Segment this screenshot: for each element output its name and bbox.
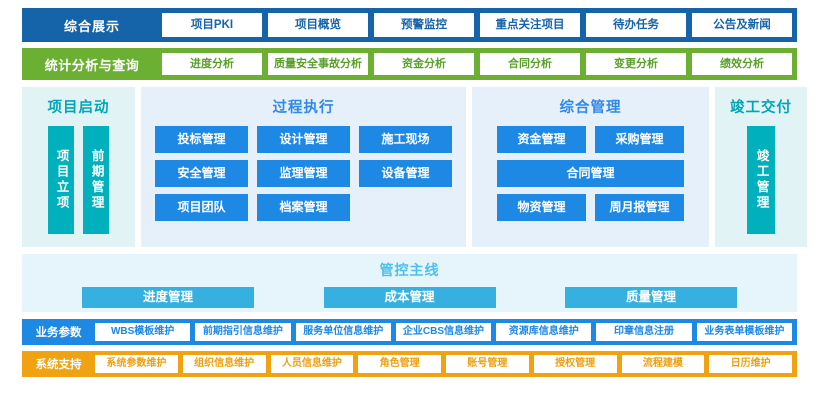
lifecycle-strip: 项目启动 项目立项前期管理 过程执行 投标管理设计管理施工现场安全管理监理管理设…	[22, 87, 797, 247]
manage-module[interactable]: 资金管理	[497, 126, 586, 153]
module-row: 安全管理监理管理设备管理	[155, 160, 452, 187]
module-row: 合同管理	[486, 160, 695, 187]
system-architecture-diagram: 综合展示 项目PKI项目概览预警监控重点关注项目待办任务公告及新闻 统计分析与查…	[22, 8, 797, 377]
module-row: 项目团队档案管理	[155, 194, 452, 221]
panel-end-title: 竣工交付	[730, 96, 792, 117]
display-nav-item[interactable]: 项目概览	[268, 13, 368, 37]
panel-start-body: 项目立项前期管理	[22, 126, 135, 247]
manage-module[interactable]: 采购管理	[595, 126, 684, 153]
grid-spacer	[359, 194, 452, 221]
process-module[interactable]: 投标管理	[155, 126, 248, 153]
system-row-label: 系统支持	[22, 356, 95, 372]
param-item[interactable]: 印章信息注册	[596, 323, 691, 341]
system-item[interactable]: 系统参数维护	[95, 355, 178, 373]
system-item[interactable]: 日历维护	[709, 355, 792, 373]
display-nav-item[interactable]: 项目PKI	[162, 13, 262, 37]
panel-start-title: 项目启动	[48, 96, 110, 117]
display-nav-item[interactable]: 公告及新闻	[692, 13, 792, 37]
stats-nav-item[interactable]: 资金分析	[374, 53, 474, 75]
control-mainline-section: 管控主线 进度管理成本管理质量管理	[22, 254, 797, 312]
panel-manage-title: 综合管理	[560, 96, 622, 117]
mainline-module[interactable]: 质量管理	[565, 287, 737, 308]
param-item[interactable]: 企业CBS信息维护	[396, 323, 491, 341]
module-row: 投标管理设计管理施工现场	[155, 126, 452, 153]
param-item[interactable]: 资源库信息维护	[496, 323, 591, 341]
manage-module[interactable]: 物资管理	[497, 194, 586, 221]
param-item[interactable]: 前期指引信息维护	[195, 323, 290, 341]
param-row-label: 业务参数	[22, 324, 95, 340]
system-item[interactable]: 角色管理	[358, 355, 441, 373]
stats-nav-row: 统计分析与查询 进度分析质量安全事故分析资金分析合同分析变更分析绩效分析	[22, 48, 797, 80]
stats-nav-item[interactable]: 进度分析	[162, 53, 262, 75]
mainline-title: 管控主线	[22, 260, 797, 280]
manage-module[interactable]: 周月报管理	[595, 194, 684, 221]
system-row-items: 系统参数维护组织信息维护人员信息维护角色管理账号管理授权管理流程建模日历维护	[95, 355, 792, 373]
process-module[interactable]: 施工现场	[359, 126, 452, 153]
process-module[interactable]: 设计管理	[257, 126, 350, 153]
stats-nav-item[interactable]: 合同分析	[480, 53, 580, 75]
business-param-row: 业务参数 WBS模板维护前期指引信息维护服务单位信息维护企业CBS信息维护资源库…	[22, 319, 797, 345]
display-nav-item[interactable]: 待办任务	[586, 13, 686, 37]
process-module[interactable]: 安全管理	[155, 160, 248, 187]
module-row: 物资管理周月报管理	[486, 194, 695, 221]
system-item[interactable]: 授权管理	[534, 355, 617, 373]
panel-manage-body: 资金管理采购管理合同管理物资管理周月报管理	[472, 126, 709, 247]
panel-process-body: 投标管理设计管理施工现场安全管理监理管理设备管理项目团队档案管理	[141, 126, 466, 247]
process-module[interactable]: 监理管理	[257, 160, 350, 187]
param-item[interactable]: WBS模板维护	[95, 323, 190, 341]
param-item[interactable]: 服务单位信息维护	[296, 323, 391, 341]
panel-process-title: 过程执行	[273, 96, 335, 117]
process-module[interactable]: 项目团队	[155, 194, 248, 221]
start-module[interactable]: 前期管理	[83, 126, 109, 234]
stats-nav-item[interactable]: 变更分析	[586, 53, 686, 75]
stats-row-items: 进度分析质量安全事故分析资金分析合同分析变更分析绩效分析	[162, 53, 792, 75]
process-module[interactable]: 设备管理	[359, 160, 452, 187]
stats-row-label: 统计分析与查询	[22, 55, 162, 74]
mainline-items: 进度管理成本管理质量管理	[22, 280, 797, 308]
system-item[interactable]: 组织信息维护	[183, 355, 266, 373]
start-module[interactable]: 项目立项	[48, 126, 74, 234]
system-item[interactable]: 流程建模	[622, 355, 705, 373]
panel-project-start: 项目启动 项目立项前期管理	[22, 87, 135, 247]
system-support-row: 系统支持 系统参数维护组织信息维护人员信息维护角色管理账号管理授权管理流程建模日…	[22, 351, 797, 377]
system-item[interactable]: 账号管理	[446, 355, 529, 373]
display-nav-item[interactable]: 预警监控	[374, 13, 474, 37]
panel-end-body: 竣工管理	[715, 126, 807, 247]
panel-comprehensive-management: 综合管理 资金管理采购管理合同管理物资管理周月报管理	[472, 87, 709, 247]
display-row-label: 综合展示	[22, 16, 162, 35]
panel-completion-delivery: 竣工交付 竣工管理	[715, 87, 807, 247]
panel-process-execution: 过程执行 投标管理设计管理施工现场安全管理监理管理设备管理项目团队档案管理	[141, 87, 466, 247]
system-item[interactable]: 人员信息维护	[271, 355, 354, 373]
manage-module[interactable]: 合同管理	[497, 160, 684, 187]
param-row-items: WBS模板维护前期指引信息维护服务单位信息维护企业CBS信息维护资源库信息维护印…	[95, 323, 792, 341]
mainline-module[interactable]: 进度管理	[82, 287, 254, 308]
mainline-module[interactable]: 成本管理	[324, 287, 496, 308]
stats-nav-item[interactable]: 质量安全事故分析	[268, 53, 368, 75]
end-module[interactable]: 竣工管理	[747, 126, 775, 234]
display-row-items: 项目PKI项目概览预警监控重点关注项目待办任务公告及新闻	[162, 13, 792, 37]
process-module[interactable]: 档案管理	[257, 194, 350, 221]
param-item[interactable]: 业务表单模板维护	[697, 323, 792, 341]
display-nav-item[interactable]: 重点关注项目	[480, 13, 580, 37]
display-nav-row: 综合展示 项目PKI项目概览预警监控重点关注项目待办任务公告及新闻	[22, 8, 797, 42]
stats-nav-item[interactable]: 绩效分析	[692, 53, 792, 75]
module-row: 资金管理采购管理	[486, 126, 695, 153]
